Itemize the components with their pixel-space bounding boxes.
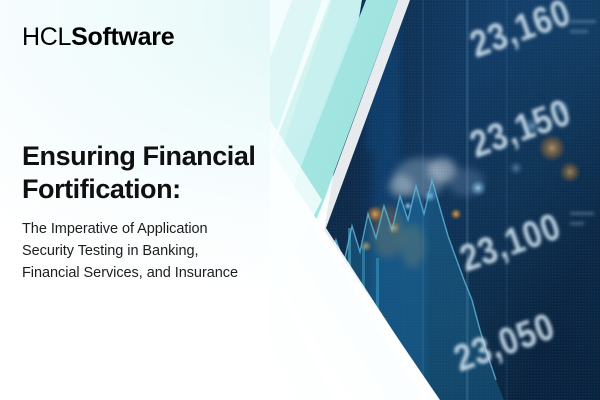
logo-suffix: Software [71,23,174,51]
hcl-software-logo: HCLSoftware [22,25,174,50]
subtitle-line-1: The Imperative of Application [22,218,290,240]
page-title: Ensuring Financial Fortification: [22,140,322,206]
page-subtitle: The Imperative of Application Security T… [22,218,290,284]
logo-prefix: HCL [22,23,71,51]
headline-line-2: Fortification: [22,173,322,206]
subtitle-line-3: Financial Services, and Insurance [22,262,290,284]
marketing-banner: 23,160 23,150 23,100 23,050 23,050 [0,0,600,400]
subtitle-line-2: Security Testing in Banking, [22,240,290,262]
headline-line-1: Ensuring Financial [22,141,255,171]
